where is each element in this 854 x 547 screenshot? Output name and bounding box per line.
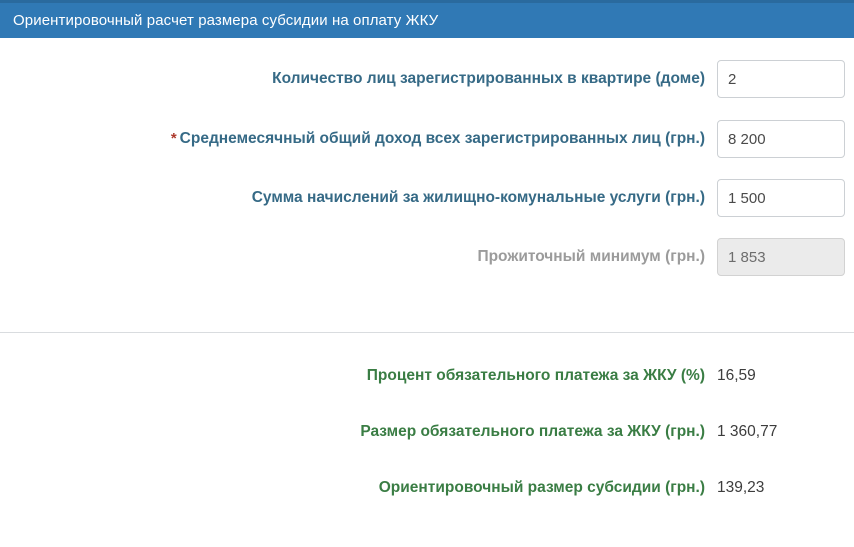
label-subsistence-minimum: Прожиточный минимум (грн.) bbox=[0, 238, 705, 269]
required-asterisk-icon: * bbox=[171, 130, 177, 147]
utility-charges-input[interactable] bbox=[717, 179, 845, 217]
monthly-income-input[interactable] bbox=[717, 120, 845, 158]
subsistence-minimum-input bbox=[717, 238, 845, 276]
form-row-registered-persons: Количество лиц зарегистрированных в квар… bbox=[0, 60, 854, 98]
registered-persons-input[interactable] bbox=[717, 60, 845, 98]
page-title: Ориентировочный расчет размера субсидии … bbox=[0, 12, 438, 29]
calculator-form: Количество лиц зарегистрированных в квар… bbox=[0, 38, 854, 276]
form-row-subsistence-minimum: Прожиточный минимум (грн.) bbox=[0, 238, 854, 276]
result-row-mandatory-payment-amount: Размер обязательного платежа за ЖКУ (грн… bbox=[0, 422, 854, 442]
input-cell-subsistence-minimum bbox=[705, 238, 854, 276]
calculation-results: Процент обязательного платежа за ЖКУ (%)… bbox=[0, 333, 854, 498]
value-mandatory-payment-amount: 1 360,77 bbox=[705, 423, 854, 441]
value-estimated-subsidy: 139,23 bbox=[705, 479, 854, 497]
label-monthly-income: *Среднемесячный общий доход всех зарегис… bbox=[0, 120, 705, 151]
result-row-estimated-subsidy: Ориентировочный размер субсидии (грн.) 1… bbox=[0, 478, 854, 498]
input-cell-utility-charges bbox=[705, 179, 854, 217]
label-utility-charges: Сумма начислений за жилищно-комунальные … bbox=[0, 179, 705, 210]
result-row-mandatory-payment-percent: Процент обязательного платежа за ЖКУ (%)… bbox=[0, 366, 854, 386]
label-mandatory-payment-percent: Процент обязательного платежа за ЖКУ (%) bbox=[0, 366, 705, 386]
input-cell-registered-persons bbox=[705, 60, 854, 98]
page-header: Ориентировочный расчет размера субсидии … bbox=[0, 0, 854, 38]
input-cell-monthly-income bbox=[705, 120, 854, 158]
label-mandatory-payment-amount: Размер обязательного платежа за ЖКУ (грн… bbox=[0, 422, 705, 442]
form-row-monthly-income: *Среднемесячный общий доход всех зарегис… bbox=[0, 120, 854, 158]
label-estimated-subsidy: Ориентировочный размер субсидии (грн.) bbox=[0, 478, 705, 498]
label-registered-persons: Количество лиц зарегистрированных в квар… bbox=[0, 60, 705, 91]
form-row-utility-charges: Сумма начислений за жилищно-комунальные … bbox=[0, 179, 854, 217]
value-mandatory-payment-percent: 16,59 bbox=[705, 367, 854, 385]
label-monthly-income-text: Среднемесячный общий доход всех зарегист… bbox=[180, 130, 705, 147]
subsidy-calculator-page: Ориентировочный расчет размера субсидии … bbox=[0, 0, 854, 547]
